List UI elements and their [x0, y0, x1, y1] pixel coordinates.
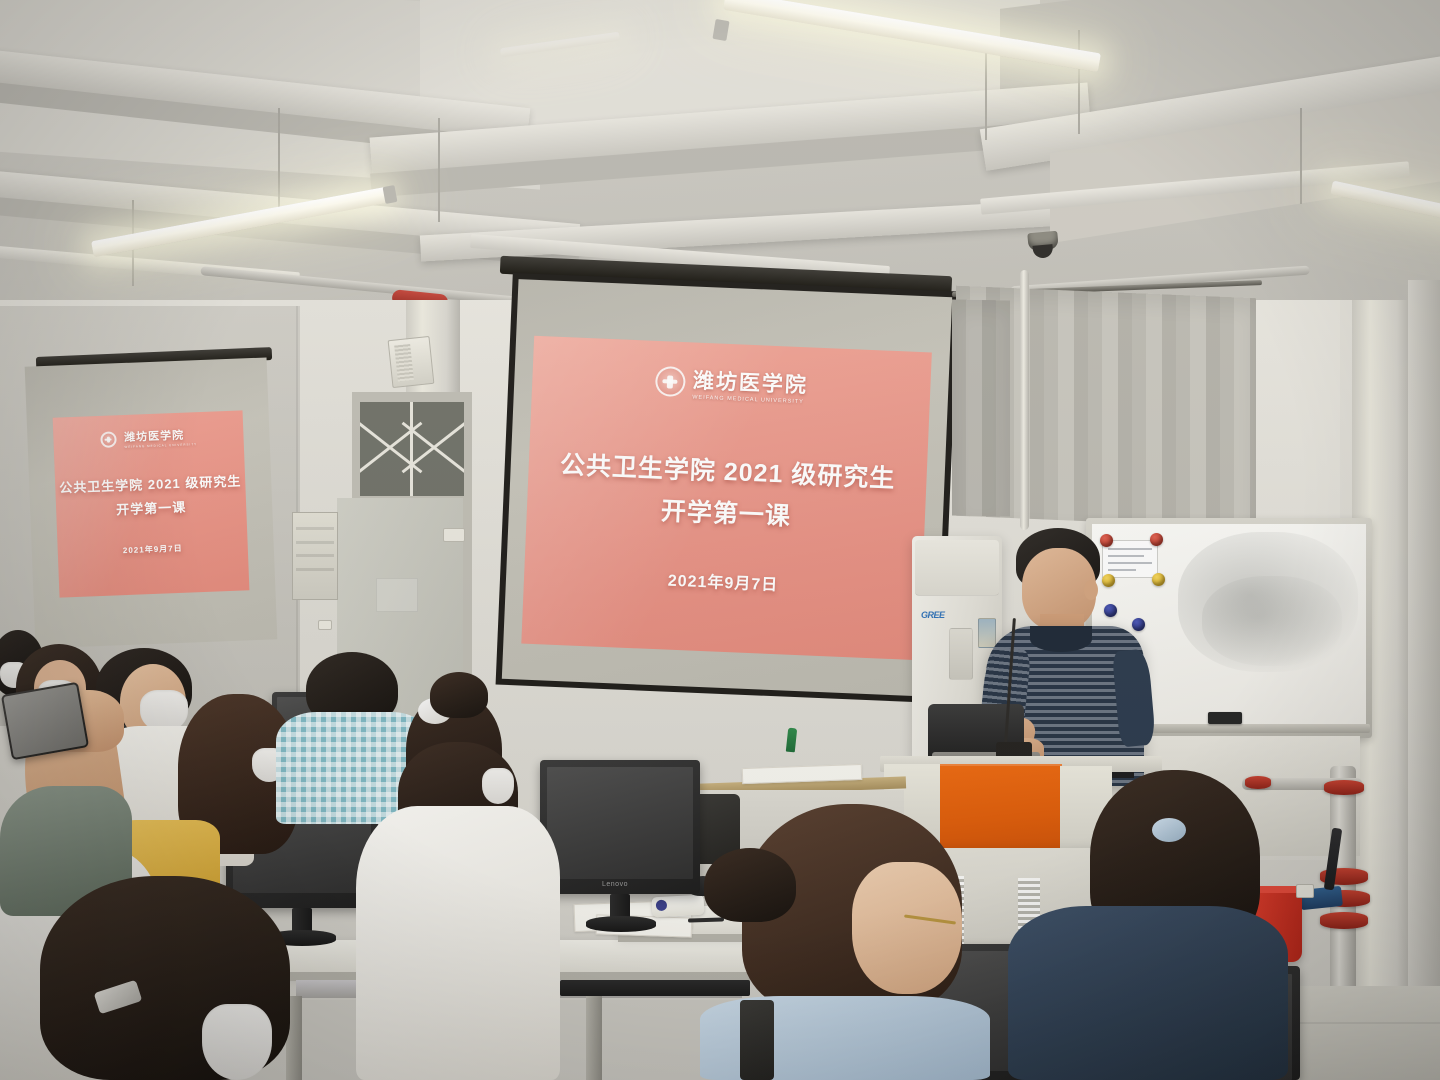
university-crest-icon: [100, 431, 117, 448]
student-small-head-1: [704, 848, 796, 922]
light-hanger-2: [438, 118, 440, 222]
student-bun-mask: [202, 1004, 272, 1080]
air-conditioner-vent: [949, 628, 973, 680]
door-window: [360, 402, 464, 496]
thermos-bottle: [652, 895, 705, 918]
monitor-brand-label: Lenovo: [602, 881, 628, 888]
right-wall-socket: [1296, 884, 1314, 898]
whiteboard-erased-marks: [1202, 576, 1342, 666]
side-logo-cn: 潍坊医学院: [124, 426, 197, 445]
main-projection-screen: 潍坊医学院 WEIFANG MEDICAL UNIVERSITY 公共卫生学院 …: [502, 279, 952, 697]
main-logo-en: WEIFANG MEDICAL UNIVERSITY: [692, 394, 807, 405]
smartphone[interactable]: [1, 682, 89, 761]
window-curtain-left-panel: [952, 299, 1010, 516]
blue-magnet: [1104, 604, 1117, 617]
main-slide-title-1: 公共卫生学院 2021 级研究生: [528, 444, 927, 497]
student-hoodie-mask: [482, 768, 514, 804]
classroom-photo: 潍坊医学院 WEIFANG MEDICAL UNIVERSITY 公共卫生学院 …: [0, 0, 1440, 1080]
electrical-panel: [292, 512, 338, 600]
presenter-collar: [1030, 626, 1092, 652]
main-slide: 潍坊医学院 WEIFANG MEDICAL UNIVERSITY 公共卫生学院 …: [521, 336, 932, 660]
backpack-strap: [740, 1000, 774, 1080]
keyboard-tray-middle: [560, 980, 750, 996]
student-hoodie-torso: [356, 806, 560, 1080]
light-hanger-1: [278, 108, 280, 220]
red-magnet: [1150, 533, 1163, 546]
air-conditioner-brand: GREE: [921, 610, 945, 620]
main-logo-cn: 潍坊医学院: [692, 364, 808, 399]
door-kick-plate: [376, 578, 418, 612]
monitor-screen: [547, 767, 693, 879]
side-slide-logo: 潍坊医学院 WEIFANG MEDICAL UNIVERSITY: [53, 424, 244, 451]
red-magnet: [1100, 534, 1113, 547]
air-conditioner-top-vent: [915, 540, 999, 596]
side-slide-title-2: 开学第一课: [56, 494, 247, 520]
main-slide-logo: 潍坊医学院 WEIFANG MEDICAL UNIVERSITY: [532, 358, 931, 411]
student-navy-torso: [1008, 906, 1288, 1080]
hair-tie: [1152, 818, 1186, 842]
side-slide: 潍坊医学院 WEIFANG MEDICAL UNIVERSITY 公共卫生学院 …: [53, 410, 250, 597]
wall-pipe-vertical: [1020, 270, 1029, 530]
door-lattice-mid: [410, 402, 413, 496]
wall-socket-low: [318, 620, 332, 630]
light-hanger-3: [985, 40, 987, 140]
university-crest-icon: [654, 366, 685, 397]
wall-speaker: [388, 336, 435, 388]
side-projection-screen: 潍坊医学院 WEIFANG MEDICAL UNIVERSITY 公共卫生学院 …: [25, 357, 278, 648]
wall-socket: [443, 528, 465, 542]
side-slide-date: 2021年9月7日: [58, 540, 248, 558]
yellow-magnet: [1152, 573, 1165, 586]
presenter-ear: [1084, 580, 1098, 600]
main-slide-date: 2021年9月7日: [524, 561, 923, 602]
light-hanger-4: [1078, 30, 1080, 134]
yellow-magnet: [1102, 574, 1115, 587]
column-far-right: [1408, 280, 1440, 1080]
fire-pipe-flange-right: [1324, 780, 1364, 795]
student-small-head-2: [430, 672, 488, 718]
student-ponytail-face: [852, 862, 962, 994]
podium-front-panel: [938, 764, 1062, 852]
side-logo-en: WEIFANG MEDICAL UNIVERSITY: [124, 442, 197, 449]
blue-magnet: [1132, 618, 1145, 631]
fire-valve-3: [1320, 912, 1368, 929]
main-slide-title-2: 开学第一课: [526, 486, 925, 539]
whiteboard-eraser: [1208, 712, 1242, 724]
light-hanger-5: [1300, 108, 1302, 204]
monitor-stand-base: [586, 916, 656, 932]
side-slide-title-1: 公共卫生学院 2021 级研究生: [55, 470, 246, 496]
fire-pipe-flange-top: [1245, 776, 1271, 789]
desk-leg-2: [586, 996, 602, 1080]
air-conditioner-display: [978, 618, 996, 648]
